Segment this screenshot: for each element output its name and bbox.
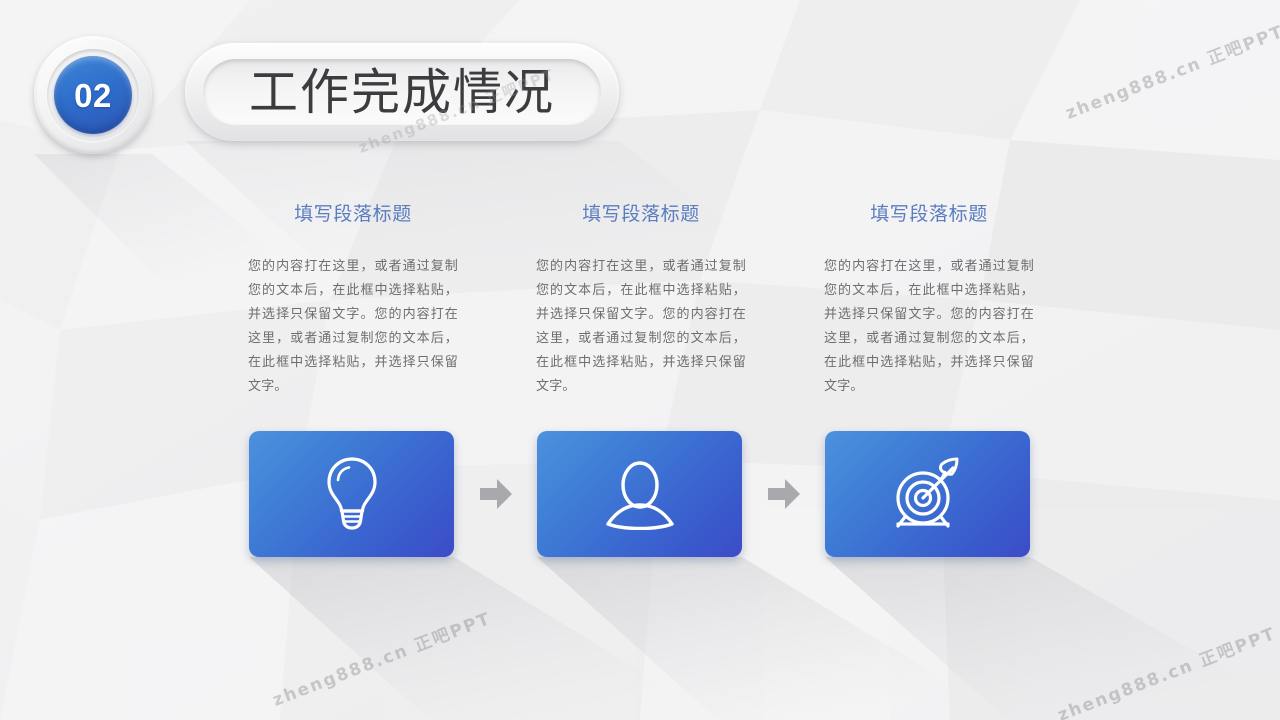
slide-canvas: 02 工作完成情况 填写段落标题 您的内容打在这里，或者通过复制您的文本后，在此…: [0, 0, 1280, 720]
section-title-pill: 工作完成情况: [185, 43, 619, 141]
flow-arrow-2: [766, 477, 802, 511]
flow-arrow-1: [478, 477, 514, 511]
badge-ring: 02: [47, 49, 139, 141]
icon-card-row: [0, 431, 1280, 561]
target-arrow-icon: [887, 454, 969, 534]
column-body-1: 您的内容打在这里，或者通过复制您的文本后，在此框中选择粘贴，并选择只保留文字。您…: [248, 255, 458, 399]
lightbulb-icon: [319, 455, 385, 533]
badge-circle: 02: [54, 56, 132, 134]
column-body-3: 您的内容打在这里，或者通过复制您的文本后，在此框中选择粘贴，并选择只保留文字。您…: [824, 255, 1034, 399]
page-title: 工作完成情况: [249, 68, 555, 117]
column-heading-3: 填写段落标题: [824, 205, 1034, 224]
section-number-badge: 02: [34, 36, 152, 154]
column-heading-1: 填写段落标题: [248, 205, 458, 224]
icon-card-3[interactable]: [825, 431, 1030, 557]
content-column-1: 填写段落标题 您的内容打在这里，或者通过复制您的文本后，在此框中选择粘贴，并选择…: [248, 205, 458, 399]
arrow-right-icon: [766, 477, 802, 511]
content-column-3: 填写段落标题 您的内容打在这里，或者通过复制您的文本后，在此框中选择粘贴，并选择…: [824, 205, 1034, 399]
icon-card-2[interactable]: [537, 431, 742, 557]
slide-header: 02 工作完成情况: [0, 0, 1280, 160]
icon-card-1[interactable]: [249, 431, 454, 557]
column-body-2: 您的内容打在这里，或者通过复制您的文本后，在此框中选择粘贴，并选择只保留文字。您…: [536, 255, 746, 399]
user-person-icon: [602, 458, 678, 530]
badge-number-label: 02: [74, 79, 112, 112]
content-columns: 填写段落标题 您的内容打在这里，或者通过复制您的文本后，在此框中选择粘贴，并选择…: [0, 205, 1280, 435]
section-title-pill-inner: 工作完成情况: [203, 59, 601, 125]
arrow-right-icon: [478, 477, 514, 511]
content-column-2: 填写段落标题 您的内容打在这里，或者通过复制您的文本后，在此框中选择粘贴，并选择…: [536, 205, 746, 399]
column-heading-2: 填写段落标题: [536, 205, 746, 224]
